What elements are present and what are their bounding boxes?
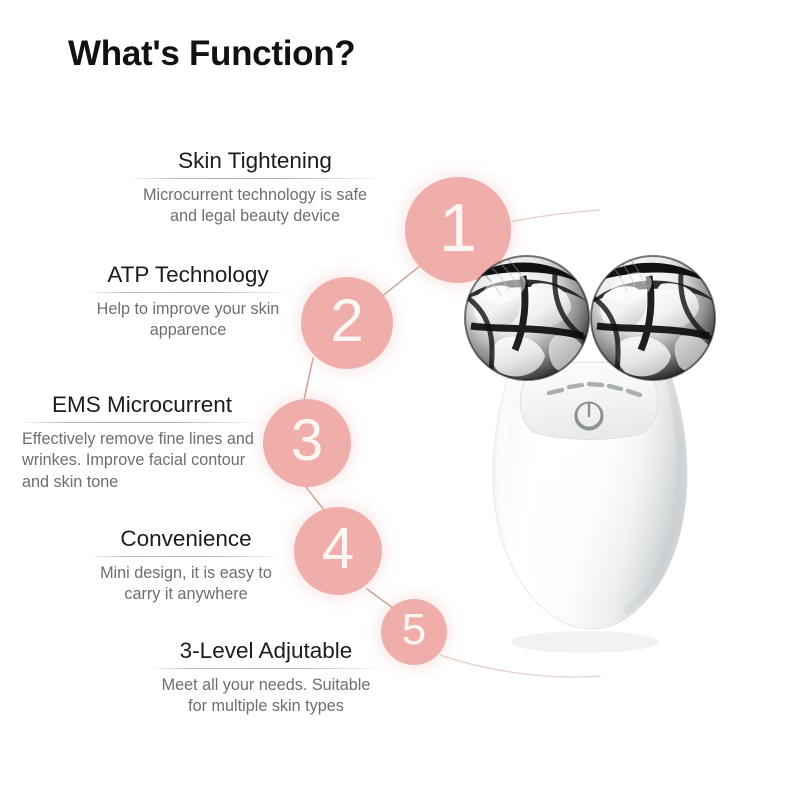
step-marker-3[interactable]: 3 — [263, 399, 351, 487]
step-number: 2 — [330, 291, 363, 351]
step-number: 5 — [402, 608, 426, 652]
infographic-canvas: What's Function? Skin Tightening Microcu… — [0, 0, 800, 800]
step-number: 3 — [291, 412, 323, 470]
step-marker-4[interactable]: 4 — [294, 507, 382, 595]
step-number: 4 — [322, 520, 354, 578]
left-chrome-roller — [460, 252, 589, 380]
product-image-microcurrent-device — [455, 240, 725, 660]
right-chrome-roller — [589, 250, 715, 380]
step-marker-5[interactable]: 5 — [381, 599, 447, 665]
device-shadow — [511, 631, 659, 653]
step-marker-2[interactable]: 2 — [301, 277, 393, 369]
